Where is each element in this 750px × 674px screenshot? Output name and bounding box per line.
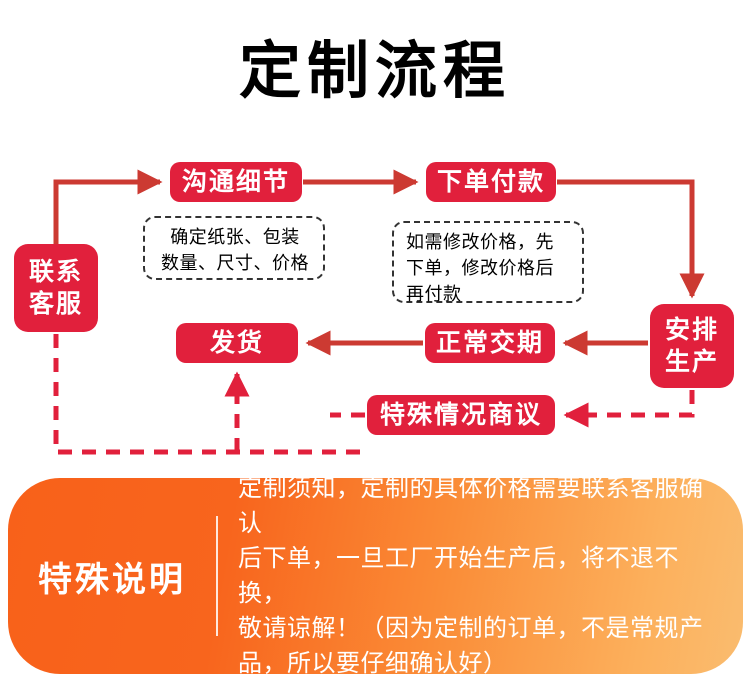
special-notice-text: 定制须知，定制的具体价格需要联系客服确认后下单，一旦工厂开始生产后，将不退不换，…	[218, 478, 743, 674]
connector-produce-to-special	[566, 390, 692, 415]
node-arrange-production-label: 安排生产	[665, 314, 719, 378]
node-place-order-payment-label: 下单付款	[437, 168, 545, 196]
node-place-order-payment[interactable]: 下单付款	[426, 162, 556, 202]
node-special-case-negotiation[interactable]: 特殊情况商议	[367, 395, 555, 435]
node-communicate-details[interactable]: 沟通细节	[170, 162, 302, 202]
node-shipment-label: 发货	[210, 329, 264, 357]
node-contact-service-label: 联系客服	[29, 256, 83, 320]
node-contact-service[interactable]: 联系客服	[14, 244, 98, 332]
special-notice-banner: 特殊说明 定制须知，定制的具体价格需要联系客服确认后下单，一旦工厂开始生产后，将…	[8, 478, 743, 674]
node-normal-delivery[interactable]: 正常交期	[425, 323, 555, 363]
node-normal-delivery-label: 正常交期	[436, 329, 544, 357]
customization-flow-infographic: 定制流程	[0, 0, 750, 672]
special-notice-label: 特殊说明	[8, 552, 216, 601]
node-shipment[interactable]: 发货	[176, 323, 298, 363]
node-communicate-details-label: 沟通细节	[182, 168, 290, 196]
node-special-case-negotiation-label: 特殊情况商议	[380, 401, 542, 429]
flowchart: 联系客服 沟通细节 下单付款 安排生产 正常交期 发货 特殊情况商议 确定纸张、…	[0, 0, 750, 470]
node-arrange-production[interactable]: 安排生产	[650, 304, 734, 388]
note-communicate-details: 确定纸张、包装数量、尺寸、价格	[143, 216, 325, 280]
note-place-order-payment: 如需修改价格，先下单，修改价格后再付款	[392, 221, 584, 303]
